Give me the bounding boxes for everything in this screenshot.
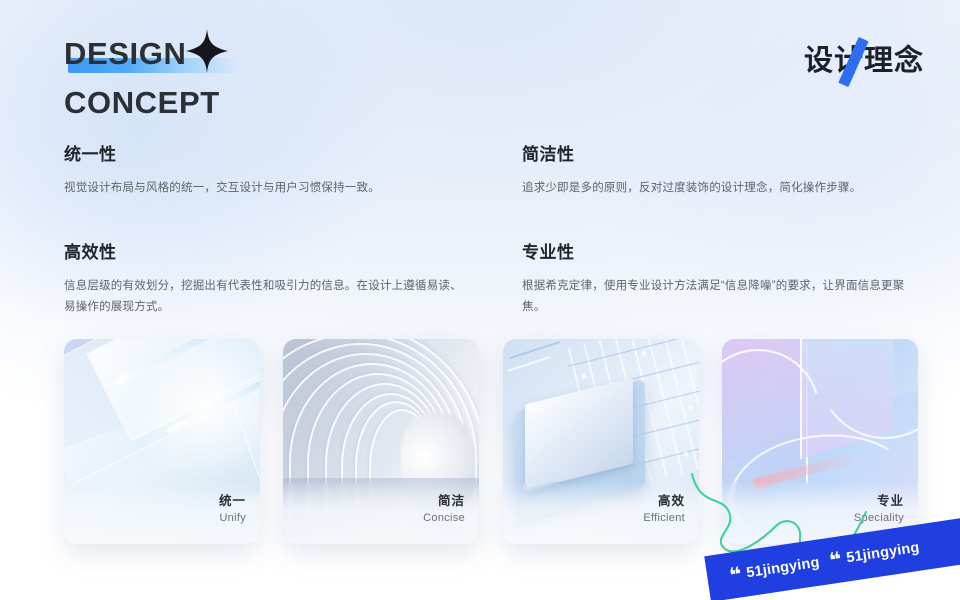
cn-page-title: 设计理念 <box>804 40 924 82</box>
quote-mark-icon: ❝ <box>828 549 842 571</box>
feature-item-efficiency: 高效性 信息层级的有效划分，挖掘出有代表性和吸引力的信息。在设计上遵循易读、易操… <box>64 238 500 318</box>
feature-body: 信息层级的有效划分，挖掘出有代表性和吸引力的信息。在设计上遵循易读、易操作的展现… <box>64 276 462 318</box>
image-card-speciality[interactable]: 专业 Speciality <box>722 339 918 544</box>
feature-row-1: 统一性 视觉设计布局与风格的统一，交互设计与用户习惯保持一致。 简洁性 追求少即… <box>64 140 936 199</box>
card-label-en: Efficient <box>503 510 685 527</box>
sparkle-four-point-icon <box>182 26 232 76</box>
watermark-text: 51jingying <box>745 555 820 582</box>
card-label-en: Concise <box>283 510 465 527</box>
feature-body: 追求少即是多的原则，反对过度装饰的设计理念，简化操作步骤。 <box>522 178 916 199</box>
watermark-text: 51jingying <box>845 540 920 567</box>
card-label-en: Speciality <box>722 510 904 527</box>
quote-mark-icon: ❝ <box>728 564 742 586</box>
feature-grid: 统一性 视觉设计布局与风格的统一，交互设计与用户习惯保持一致。 简洁性 追求少即… <box>64 140 936 318</box>
slide-root: DESIGN CONCEPT 设计理念 统一性 视觉设计布局与风格的统一，交互设… <box>0 0 960 600</box>
card-label-cn: 简洁 <box>283 492 465 510</box>
watermark-item-2: ❝ 51jingying <box>828 537 921 571</box>
feature-item-simplicity: 简洁性 追求少即是多的原则，反对过度装饰的设计理念，简化操作步骤。 <box>500 140 936 199</box>
image-card-efficient[interactable]: 高效 Efficient <box>503 339 699 544</box>
image-card-unify[interactable]: 统一 Unify <box>64 339 260 544</box>
feature-row-2: 高效性 信息层级的有效划分，挖掘出有代表性和吸引力的信息。在设计上遵循易读、易操… <box>64 238 936 318</box>
feature-body: 根据希克定律，使用专业设计方法满足“信息降噪”的要求，让界面信息更聚焦。 <box>522 276 916 318</box>
card-label-cn: 专业 <box>722 492 904 510</box>
card-label: 高效 Efficient <box>503 482 699 544</box>
feature-heading: 高效性 <box>64 238 462 263</box>
feature-heading: 统一性 <box>64 140 462 165</box>
card-label-en: Unify <box>64 510 246 527</box>
image-card-row: 统一 Unify 简洁 Concise <box>64 339 919 544</box>
feature-item-unity: 统一性 视觉设计布局与风格的统一，交互设计与用户习惯保持一致。 <box>64 140 500 199</box>
watermark-item-1: ❝ 51jingying <box>728 552 821 586</box>
card-label-cn: 高效 <box>503 492 685 510</box>
image-card-concise[interactable]: 简洁 Concise <box>283 339 479 544</box>
feature-heading: 专业性 <box>522 238 916 263</box>
card-label: 简洁 Concise <box>283 482 479 544</box>
feature-body: 视觉设计布局与风格的统一，交互设计与用户习惯保持一致。 <box>64 178 462 199</box>
feature-item-professionalism: 专业性 根据希克定律，使用专业设计方法满足“信息降噪”的要求，让界面信息更聚焦。 <box>500 238 936 318</box>
title-line-2: CONCEPT <box>64 85 220 121</box>
feature-heading: 简洁性 <box>522 140 916 165</box>
card-label: 统一 Unify <box>64 482 260 544</box>
card-label-cn: 统一 <box>64 492 246 510</box>
